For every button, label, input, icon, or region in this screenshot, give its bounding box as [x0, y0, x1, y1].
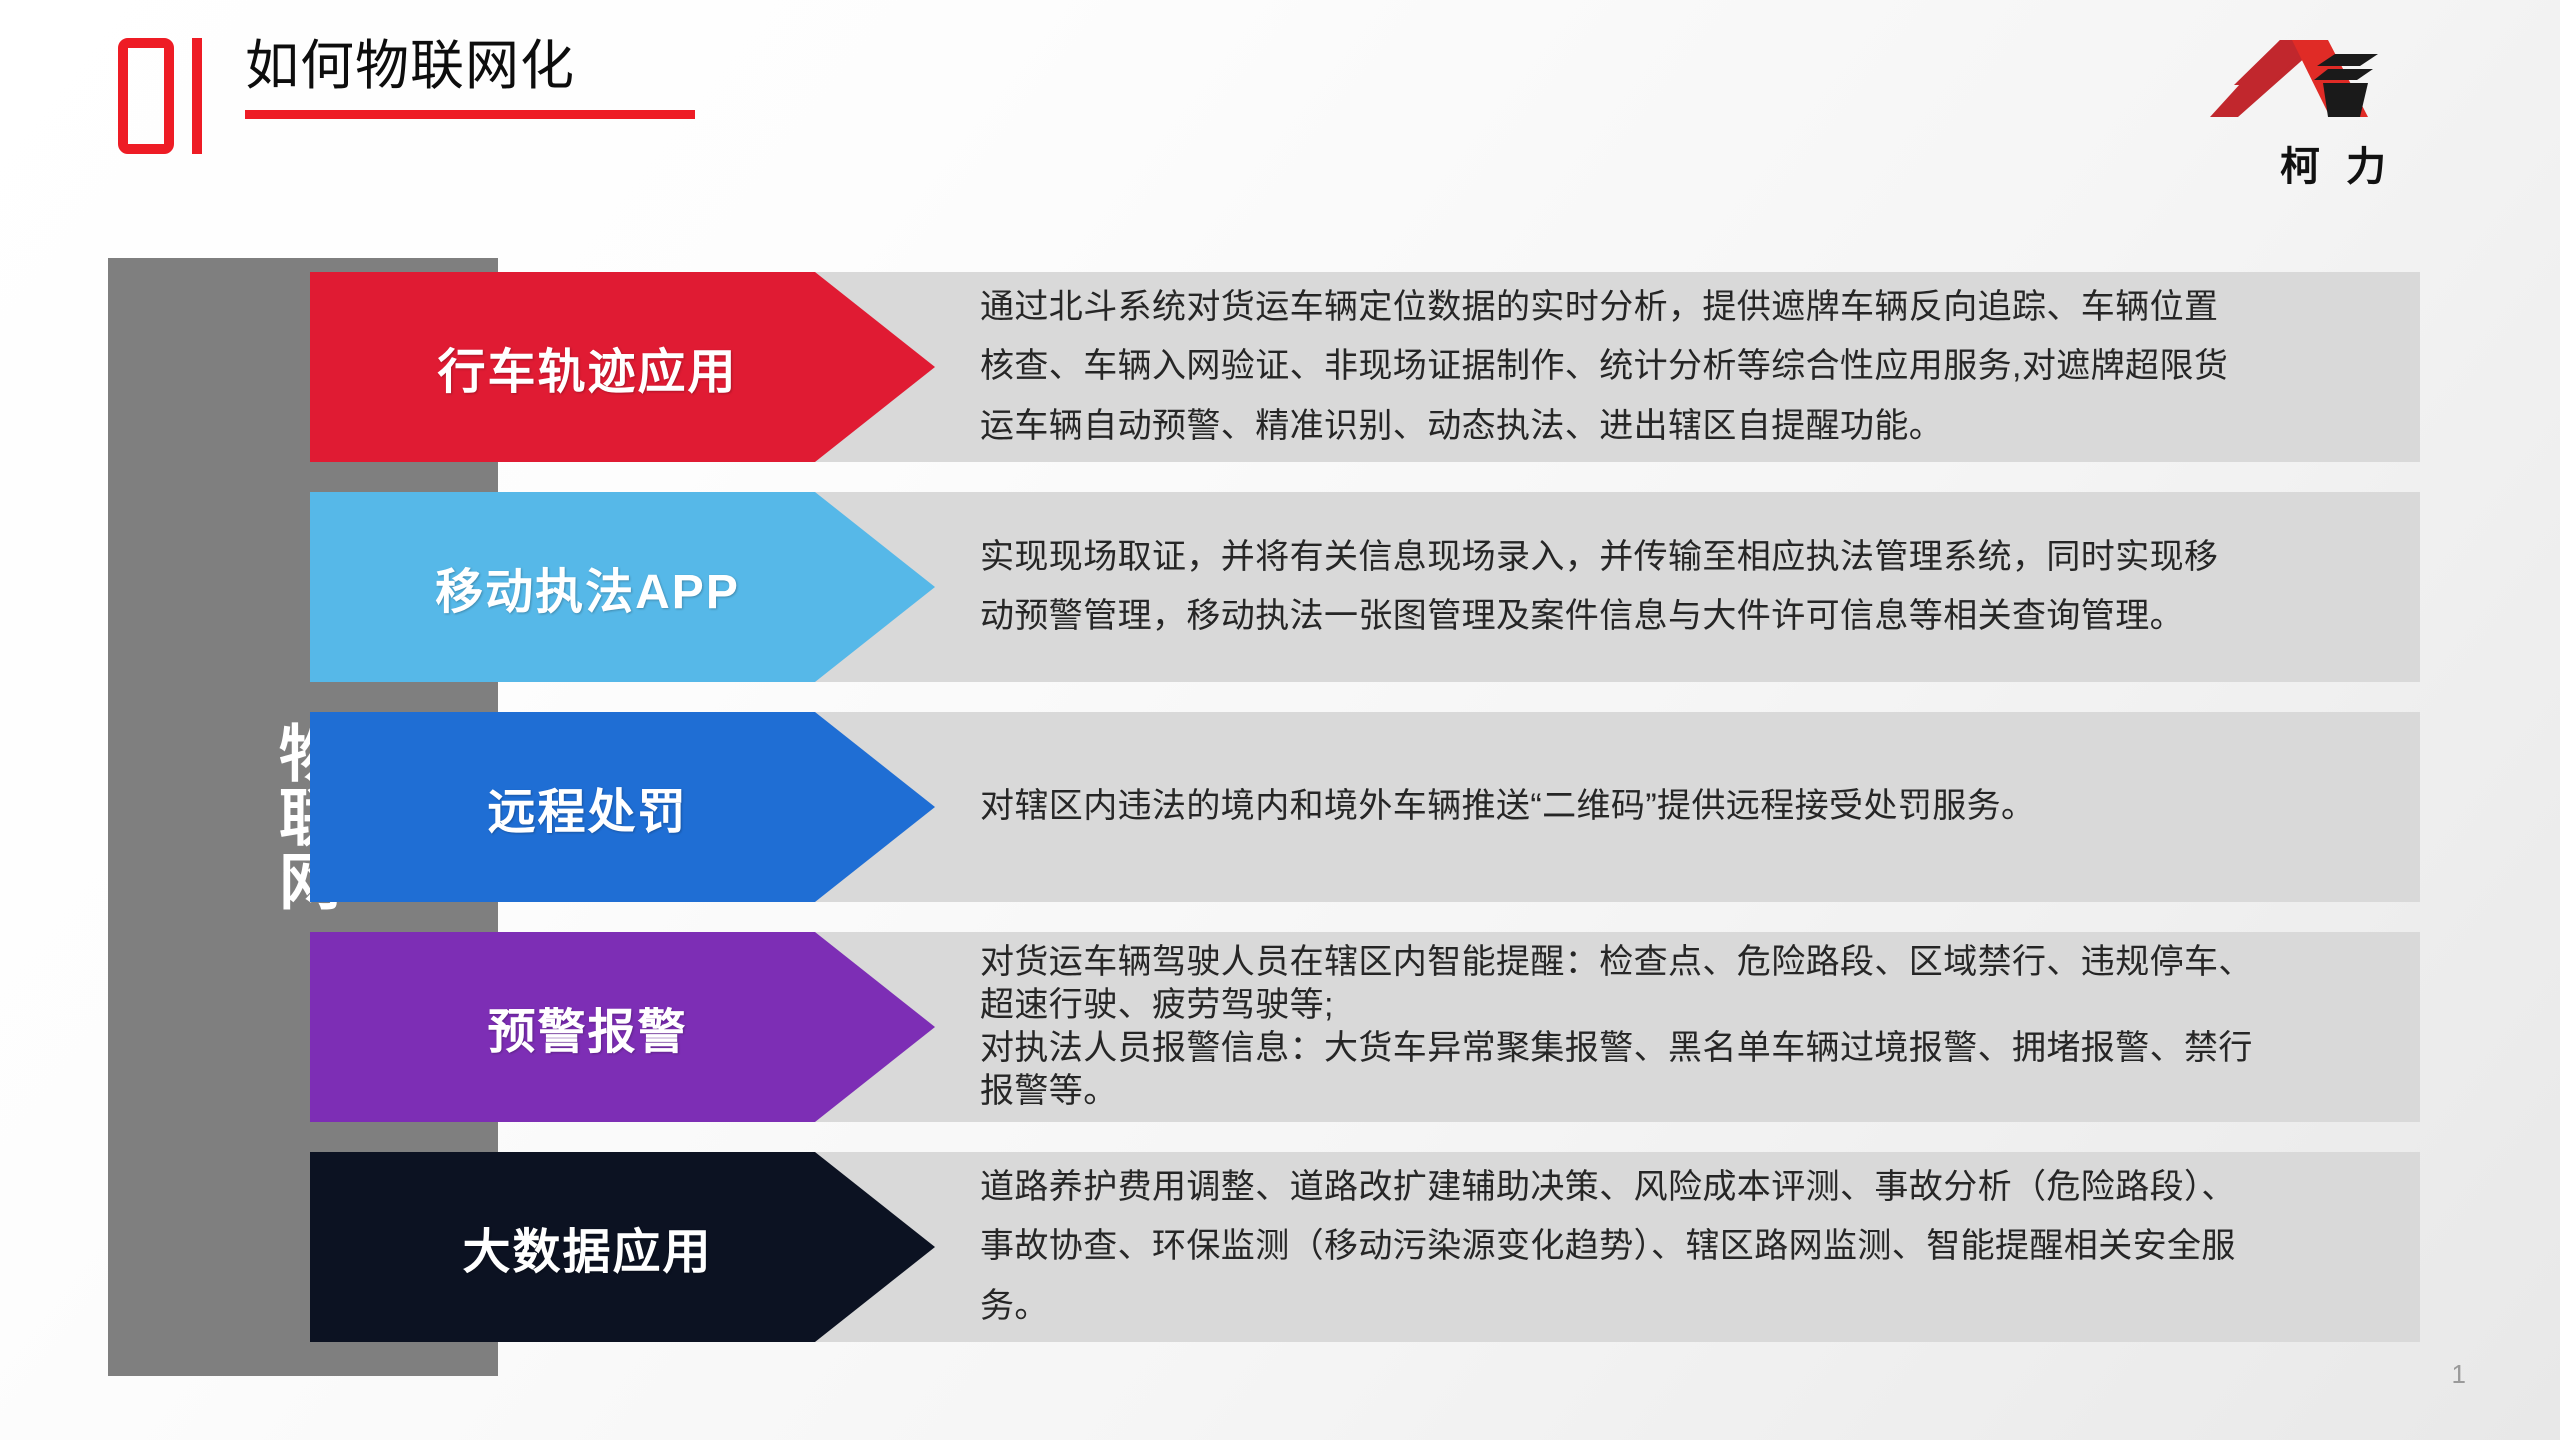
process-diagram: 物联网 行车轨迹应用 通过北斗系统对货运车辆定位数据的实时分析，提供遮牌车辆反向…: [0, 0, 2560, 1440]
process-row-3[interactable]: 远程处罚 对辖区内违法的境内和境外车辆推送“二维码”提供远程接受处罚服务。: [310, 712, 2420, 902]
row-description: 对辖区内违法的境内和境外车辆推送“二维码”提供远程接受处罚服务。: [980, 712, 2400, 902]
row-description: 对货运车辆驾驶人员在辖区内智能提醒：检查点、危险路段、区域禁行、违规停车、 超速…: [980, 932, 2400, 1122]
row-desc-line: 运车辆自动预警、精准识别、动态执法、进出辖区自提醒功能。: [980, 397, 2400, 456]
row-description: 道路养护费用调整、道路改扩建辅助决策、风险成本评测、事故分析（危险路段）、 事故…: [980, 1152, 2400, 1342]
row-desc-line: 动预警管理，移动执法一张图管理及案件信息与大件许可信息等相关查询管理。: [980, 587, 2400, 646]
process-row-5[interactable]: 大数据应用 道路养护费用调整、道路改扩建辅助决策、风险成本评测、事故分析（危险路…: [310, 1152, 2420, 1342]
row-desc-line: 事故协查、环保监测（移动污染源变化趋势）、辖区路网监测、智能提醒相关安全服: [980, 1217, 2400, 1276]
row-desc-line: 对辖区内违法的境内和境外车辆推送“二维码”提供远程接受处罚服务。: [980, 777, 2400, 836]
row-arrow-shape: [310, 712, 935, 902]
process-row-4[interactable]: 预警报警 对货运车辆驾驶人员在辖区内智能提醒：检查点、危险路段、区域禁行、违规停…: [310, 932, 2420, 1122]
row-desc-line: 通过北斗系统对货运车辆定位数据的实时分析，提供遮牌车辆反向追踪、车辆位置: [980, 278, 2400, 337]
row-description: 实现现场取证，并将有关信息现场录入，并传输至相应执法管理系统，同时实现移 动预警…: [980, 492, 2400, 682]
row-desc-line: 超速行驶、疲劳驾驶等;: [980, 984, 2400, 1027]
row-desc-line: 核查、车辆入网验证、非现场证据制作、统计分析等综合性应用服务,对遮牌超限货: [980, 337, 2400, 396]
row-desc-line: 对执法人员报警信息：大货车异常聚集报警、黑名单车辆过境报警、拥堵报警、禁行: [980, 1027, 2400, 1070]
row-arrow-shape: [310, 932, 935, 1122]
row-desc-line: 务。: [980, 1277, 2400, 1336]
row-desc-line: 道路养护费用调整、道路改扩建辅助决策、风险成本评测、事故分析（危险路段）、: [980, 1158, 2400, 1217]
row-arrow-shape: [310, 272, 935, 462]
row-arrow-shape: [310, 1152, 935, 1342]
slide-canvas: 如何物联网化 柯力 物联网: [0, 0, 2560, 1440]
row-desc-line: 对货运车辆驾驶人员在辖区内智能提醒：检查点、危险路段、区域禁行、违规停车、: [980, 941, 2400, 984]
process-row-2[interactable]: 移动执法APP 实现现场取证，并将有关信息现场录入，并传输至相应执法管理系统，同…: [310, 492, 2420, 682]
page-number: 1: [2452, 1359, 2466, 1390]
row-desc-line: 实现现场取证，并将有关信息现场录入，并传输至相应执法管理系统，同时实现移: [980, 528, 2400, 587]
row-description: 通过北斗系统对货运车辆定位数据的实时分析，提供遮牌车辆反向追踪、车辆位置 核查、…: [980, 272, 2400, 462]
process-row-1[interactable]: 行车轨迹应用 通过北斗系统对货运车辆定位数据的实时分析，提供遮牌车辆反向追踪、车…: [310, 272, 2420, 462]
row-arrow-shape: [310, 492, 935, 682]
row-desc-line: 报警等。: [980, 1070, 2400, 1113]
